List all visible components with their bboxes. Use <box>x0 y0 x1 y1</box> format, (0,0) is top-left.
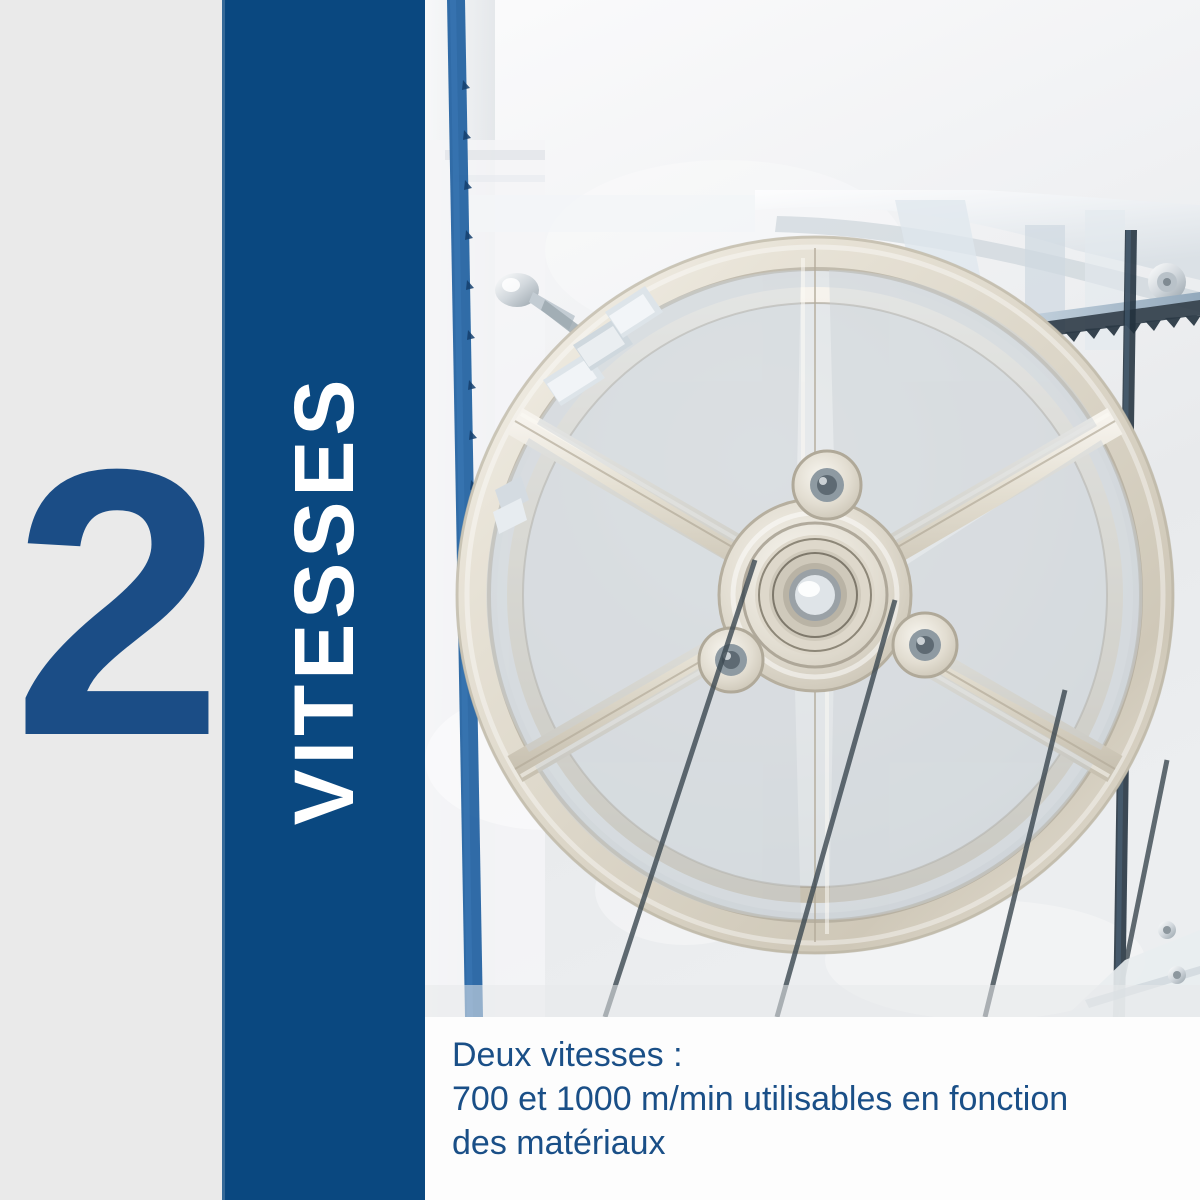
caption-line-3: des matériaux <box>452 1121 1192 1165</box>
machine-photo <box>425 0 1200 1017</box>
caption-area: Deux vitesses : 700 et 1000 m/min utilis… <box>425 1017 1200 1200</box>
blue-band: VITESSES <box>222 0 425 1200</box>
caption-text: Deux vitesses : 700 et 1000 m/min utilis… <box>452 1033 1192 1165</box>
band-title-label: VITESSES <box>282 375 366 826</box>
step-number: 2 <box>6 418 222 788</box>
caption-line-2: 700 et 1000 m/min utilisables en fonctio… <box>452 1077 1192 1121</box>
slide-root: 2 VITESSES <box>0 0 1200 1200</box>
caption-line-1: Deux vitesses : <box>452 1033 1192 1077</box>
